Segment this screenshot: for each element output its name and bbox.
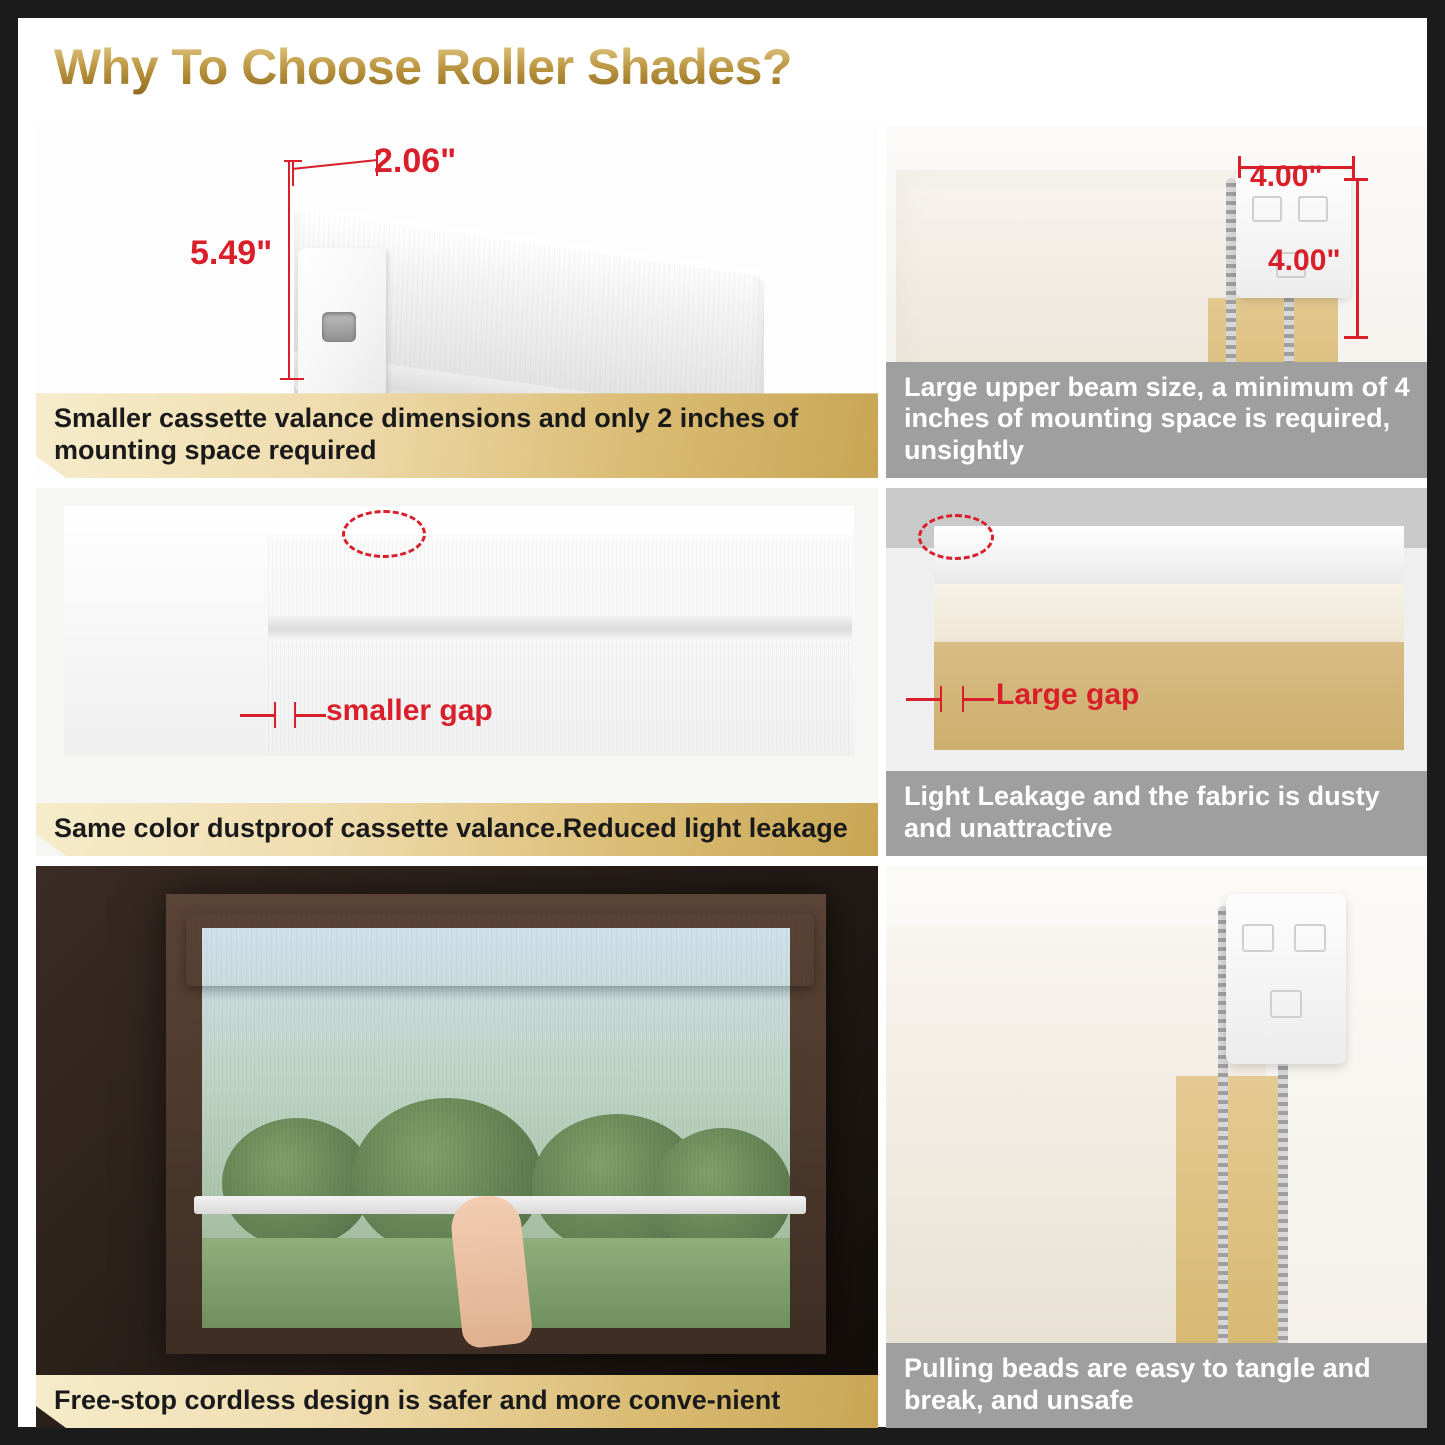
gap-label: smaller gap (326, 694, 493, 728)
panel-light-leakage: Large gap Light Leakage and the fabric i… (886, 488, 1427, 856)
beam-depth-dimension-label: 4.00" (1268, 244, 1341, 278)
height-dimension-label: 5.49" (190, 234, 272, 273)
panel-cassette-valance-dimensions: 2.06" 5.49" Smaller cassette valance dim… (36, 126, 878, 478)
shade-middle-rail (268, 616, 852, 642)
panel-caption: Large upper beam size, a minimum of 4 in… (886, 362, 1427, 478)
panel-dustproof-cassette: smaller gap Same color dustproof cassett… (36, 488, 878, 856)
width-dimension-label: 2.06" (374, 142, 456, 181)
beam-bracket-mark (1294, 924, 1326, 952)
panel-pulling-beads: Pulling beads are easy to tangle and bre… (886, 866, 1427, 1428)
panel-caption: Pulling beads are easy to tangle and bre… (886, 1343, 1427, 1428)
infographic-page: Why To Choose Roller Shades? 2.06" (0, 0, 1445, 1445)
bead-chain (1278, 1016, 1288, 1346)
end-cap-slot (322, 312, 356, 342)
cassette-valance (186, 914, 814, 986)
highlight-ellipse (918, 514, 994, 560)
gap-indicator-arrow (964, 698, 994, 701)
beam-depth-dimension-tick (1344, 178, 1368, 181)
panel-caption: Same color dustproof cassette valance.Re… (36, 803, 878, 856)
page-title: Why To Choose Roller Shades? (54, 38, 792, 96)
gap-label: Large gap (996, 678, 1139, 712)
gap-indicator-arrow (906, 698, 940, 701)
beam-depth-dimension-tick (1344, 336, 1368, 339)
gap-indicator-arrow (240, 714, 274, 717)
beam-bracket-mark (1242, 924, 1274, 952)
shade-fabric-blackout (1176, 1076, 1286, 1366)
beam-width-dimension-tick (1352, 156, 1355, 178)
beam-bracket-mark (1298, 196, 1328, 222)
panel-cordless-design: Free-stop cordless design is safer and m… (36, 866, 878, 1428)
height-dimension-tick (280, 378, 304, 380)
panel-caption: Smaller cassette valance dimensions and … (36, 393, 878, 478)
beam-width-dimension-tick (1238, 156, 1241, 178)
highlight-ellipse (342, 510, 426, 558)
shade-headrail (934, 526, 1404, 584)
beam-bracket-mark (1252, 196, 1282, 222)
shade-fabric (194, 984, 806, 1204)
gap-indicator-line (274, 702, 276, 728)
height-dimension-tick (284, 160, 302, 162)
product-photo-cordless-shade (36, 866, 878, 1428)
panel-caption: Light Leakage and the fabric is dusty an… (886, 771, 1427, 856)
gap-indicator-line (940, 686, 942, 712)
shade-fabric-sheer (934, 584, 1404, 642)
height-dimension-line (288, 296, 290, 380)
upper-beam-housing (1226, 894, 1346, 1064)
width-dimension-line (292, 160, 294, 186)
gap-indicator-arrow (296, 714, 326, 717)
beam-depth-dimension-line (1356, 178, 1359, 338)
panel-large-upper-beam: 4.00" 4.00" Large upper beam size, a min… (886, 126, 1427, 478)
beam-bracket-mark (1270, 990, 1302, 1018)
panel-caption: Free-stop cordless design is safer and m… (36, 1375, 878, 1428)
beam-width-dimension-label: 4.00" (1250, 160, 1323, 194)
product-photo-dustproof-cassette: smaller gap (36, 488, 878, 856)
